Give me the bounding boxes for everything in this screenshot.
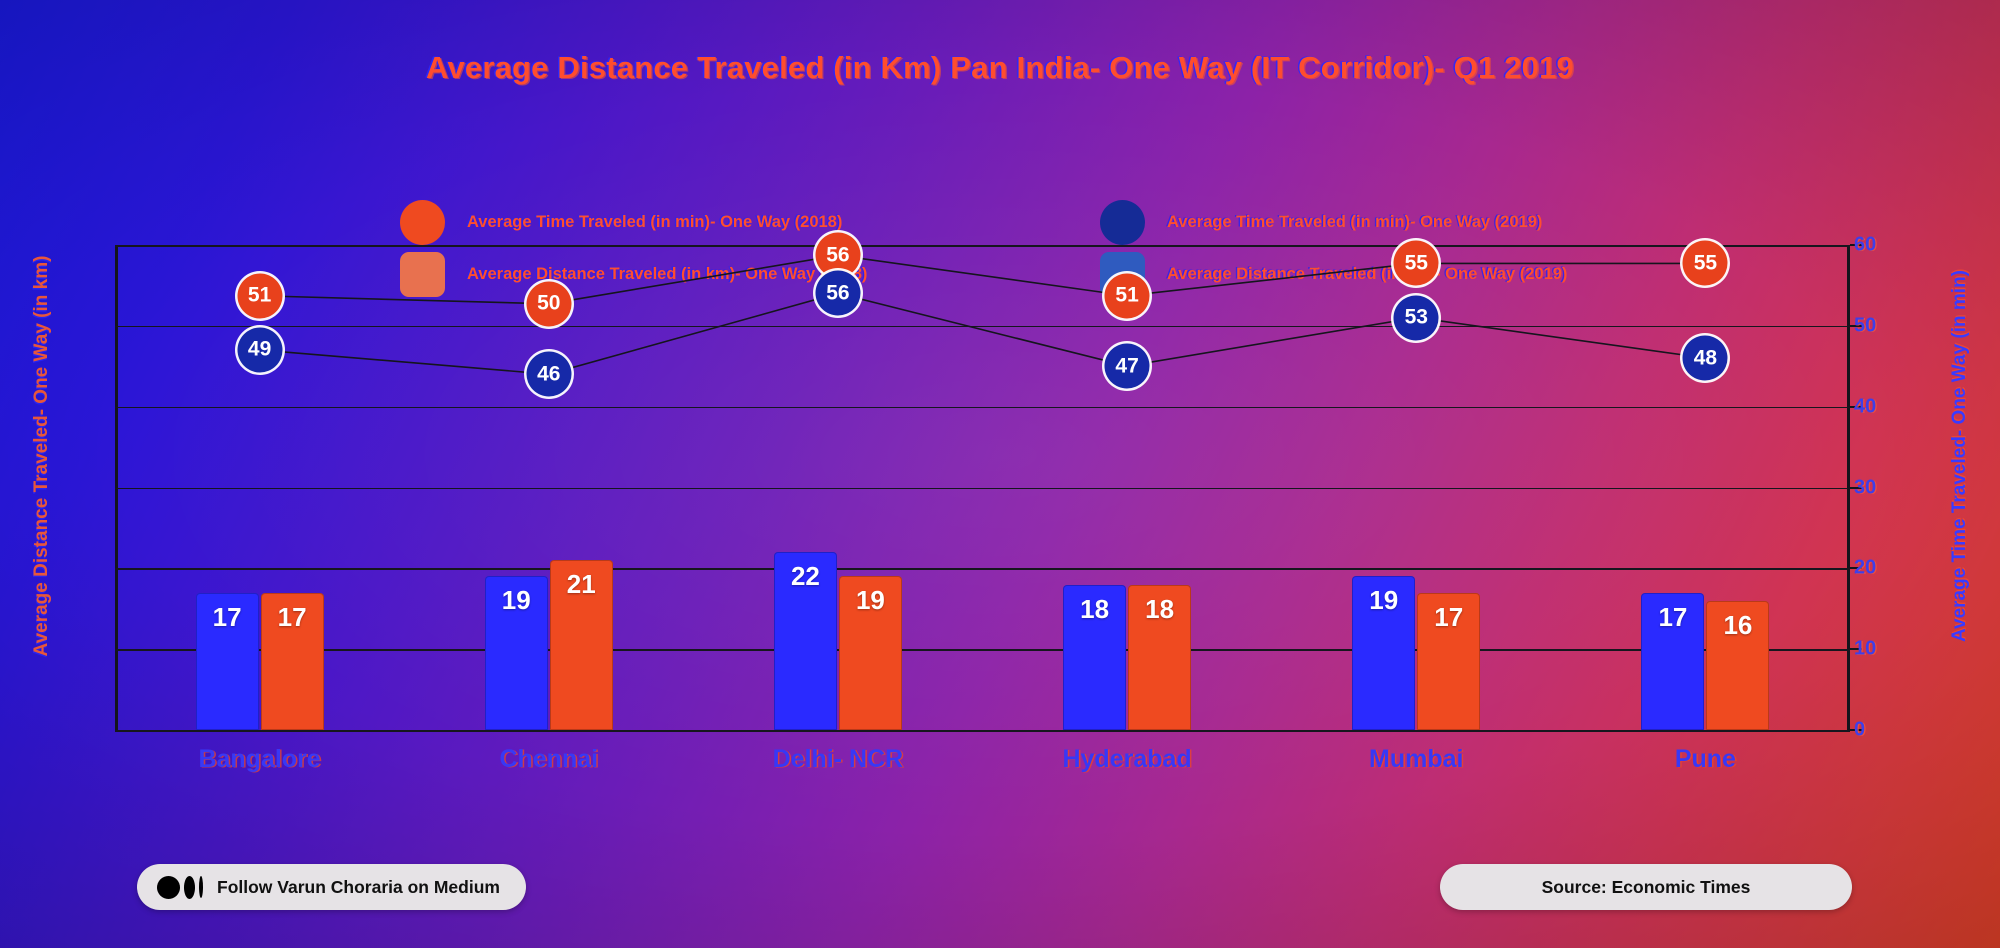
bar-group: 1921 xyxy=(485,560,613,730)
bar-group: 1818 xyxy=(1063,585,1191,731)
line-point-marker[interactable]: 55 xyxy=(1683,241,1728,286)
legend-label: Average Time Traveled (in min)- One Way … xyxy=(467,213,842,232)
bar-group: 1717 xyxy=(196,593,324,730)
bar[interactable]: 17 xyxy=(1641,593,1704,730)
bar-group: 1917 xyxy=(1352,576,1480,730)
bar[interactable]: 16 xyxy=(1706,601,1769,730)
bar-series: 171719212219181819171716 xyxy=(115,245,1850,730)
line-point-marker[interactable]: 55 xyxy=(1394,241,1439,286)
line-point-marker[interactable]: 51 xyxy=(237,273,282,318)
line-point-marker[interactable]: 49 xyxy=(237,327,282,372)
y-axis-right-tick-label: 20 xyxy=(1854,557,1896,580)
y-axis-left-title: Average Distance Traveled- One Way (in k… xyxy=(31,176,53,736)
x-axis-label: Delhi- NCR xyxy=(773,745,904,774)
bar-group: 1716 xyxy=(1641,593,1769,730)
line-point-marker[interactable]: 46 xyxy=(526,352,571,397)
legend-label: Average Time Traveled (in min)- One Way … xyxy=(1167,213,1542,232)
legend-item[interactable]: Average Time Traveled (in min)- One Way … xyxy=(400,196,867,248)
bar[interactable]: 19 xyxy=(839,576,902,730)
medium-badge[interactable]: Follow Varun Choraria on Medium xyxy=(137,864,526,910)
bar[interactable]: 22 xyxy=(774,552,837,730)
bar-value-label: 22 xyxy=(774,561,837,592)
source-badge: Source: Economic Times xyxy=(1440,864,1852,910)
line-point-marker[interactable]: 48 xyxy=(1683,336,1728,381)
legend-item[interactable]: Average Time Traveled (in min)- One Way … xyxy=(1100,196,1567,248)
x-axis-label: Bangalore xyxy=(198,745,320,774)
line-point-marker[interactable]: 50 xyxy=(526,281,571,326)
bar[interactable]: 21 xyxy=(550,560,613,730)
bar-value-label: 16 xyxy=(1706,610,1769,641)
legend-swatch-circle-icon xyxy=(400,200,445,245)
line-point-marker[interactable]: 51 xyxy=(1105,273,1150,318)
gridline xyxy=(115,730,1850,732)
bar-value-label: 17 xyxy=(196,602,259,633)
bar-value-label: 17 xyxy=(261,602,324,633)
bar-value-label: 19 xyxy=(839,585,902,616)
line-point-marker[interactable]: 47 xyxy=(1105,344,1150,389)
bar-value-label: 17 xyxy=(1641,602,1704,633)
line-point-marker[interactable]: 53 xyxy=(1394,295,1439,340)
bar[interactable]: 17 xyxy=(1417,593,1480,730)
bar[interactable]: 17 xyxy=(196,593,259,730)
y-axis-right-tick-label: 0 xyxy=(1854,719,1896,742)
x-axis-labels: BangaloreChennaiDelhi- NCRHyderabadMumba… xyxy=(115,745,1850,791)
medium-badge-label: Follow Varun Choraria on Medium xyxy=(217,877,500,898)
y-axis-right-tick-label: 60 xyxy=(1854,234,1896,257)
y-axis-right-tick-label: 50 xyxy=(1854,314,1896,337)
bar-value-label: 21 xyxy=(550,569,613,600)
bar[interactable]: 17 xyxy=(261,593,324,730)
y-axis-right-title: Average Time Traveled- One Way (in min) xyxy=(1949,176,1971,736)
bar[interactable]: 19 xyxy=(485,576,548,730)
x-axis-label: Hyderabad xyxy=(1062,745,1191,774)
source-badge-label: Source: Economic Times xyxy=(1542,877,1751,898)
legend-swatch-circle-icon xyxy=(1100,200,1145,245)
medium-logo-icon xyxy=(157,876,203,899)
bar[interactable]: 18 xyxy=(1063,585,1126,731)
bar-value-label: 19 xyxy=(1352,585,1415,616)
y-axis-right-tick-label: 40 xyxy=(1854,395,1896,418)
page-title: Average Distance Traveled (in Km) Pan In… xyxy=(0,50,2000,86)
bar-value-label: 17 xyxy=(1417,602,1480,633)
bar[interactable]: 19 xyxy=(1352,576,1415,730)
x-axis-label: Pune xyxy=(1675,745,1736,774)
bar-value-label: 18 xyxy=(1128,594,1191,625)
bar-group: 2219 xyxy=(774,552,902,730)
bar-value-label: 18 xyxy=(1063,594,1126,625)
bar-value-label: 19 xyxy=(485,585,548,616)
x-axis-label: Chennai xyxy=(499,745,598,774)
line-point-marker[interactable]: 56 xyxy=(815,271,860,316)
bar[interactable]: 18 xyxy=(1128,585,1191,731)
plot-area: 0102030405060 171719212219181819171716 5… xyxy=(115,245,1850,730)
y-axis-right-tick-label: 30 xyxy=(1854,476,1896,499)
x-axis-label: Mumbai xyxy=(1369,745,1463,774)
y-axis-right-tick-label: 10 xyxy=(1854,638,1896,661)
